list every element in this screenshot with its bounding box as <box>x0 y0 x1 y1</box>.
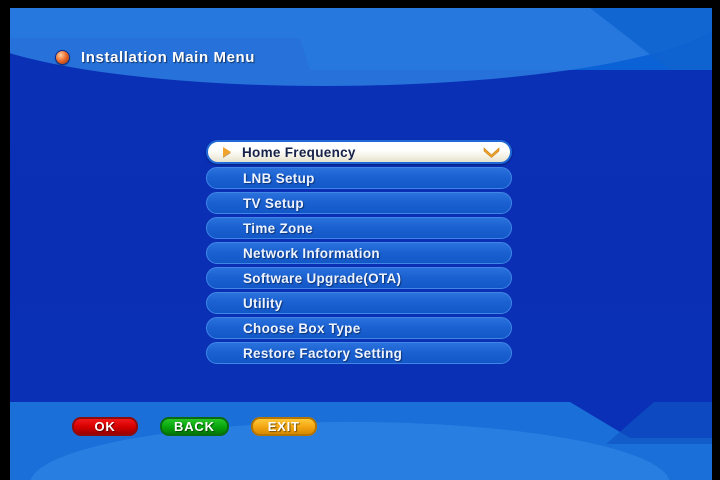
menu-item-label: Software Upgrade(OTA) <box>243 271 401 286</box>
menu-item-label: Home Frequency <box>242 145 356 160</box>
menu-item-label: Time Zone <box>243 221 313 236</box>
action-button-bar: OK BACK EXIT <box>72 417 317 436</box>
menu-item-choose-box-type[interactable]: Choose Box Type <box>206 317 512 339</box>
page-title: Installation Main Menu <box>81 49 255 66</box>
menu-item-lnb-setup[interactable]: LNB Setup <box>206 167 512 189</box>
menu-item-label: LNB Setup <box>243 171 315 186</box>
menu-item-label: Restore Factory Setting <box>243 346 402 361</box>
menu-item-utility[interactable]: Utility <box>206 292 512 314</box>
menu-item-software-upgrade-ota[interactable]: Software Upgrade(OTA) <box>206 267 512 289</box>
menu-item-home-frequency[interactable]: Home Frequency <box>206 140 512 164</box>
exit-button[interactable]: EXIT <box>251 417 317 436</box>
osd-picture-area: Installation Main Menu Home Frequency LN… <box>10 8 712 480</box>
menu-item-network-information[interactable]: Network Information <box>206 242 512 264</box>
menu-item-label: Utility <box>243 296 283 311</box>
menu-item-label: Choose Box Type <box>243 321 361 336</box>
installation-menu-list[interactable]: Home Frequency LNB Setup TV Setup Time Z… <box>206 140 512 364</box>
menu-item-tv-setup[interactable]: TV Setup <box>206 192 512 214</box>
menu-item-restore-factory-setting[interactable]: Restore Factory Setting <box>206 342 512 364</box>
menu-item-label: TV Setup <box>243 196 304 211</box>
ok-button[interactable]: OK <box>72 417 138 436</box>
tv-screen: Installation Main Menu Home Frequency LN… <box>0 0 720 480</box>
arrow-right-icon <box>223 147 231 157</box>
back-button[interactable]: BACK <box>160 417 229 436</box>
orange-bullet-icon <box>56 51 69 64</box>
background-footer-bar <box>10 402 712 480</box>
chevron-down-icon[interactable] <box>483 147 500 158</box>
page-title-bar: Installation Main Menu <box>56 49 255 66</box>
menu-item-time-zone[interactable]: Time Zone <box>206 217 512 239</box>
menu-item-label: Network Information <box>243 246 380 261</box>
